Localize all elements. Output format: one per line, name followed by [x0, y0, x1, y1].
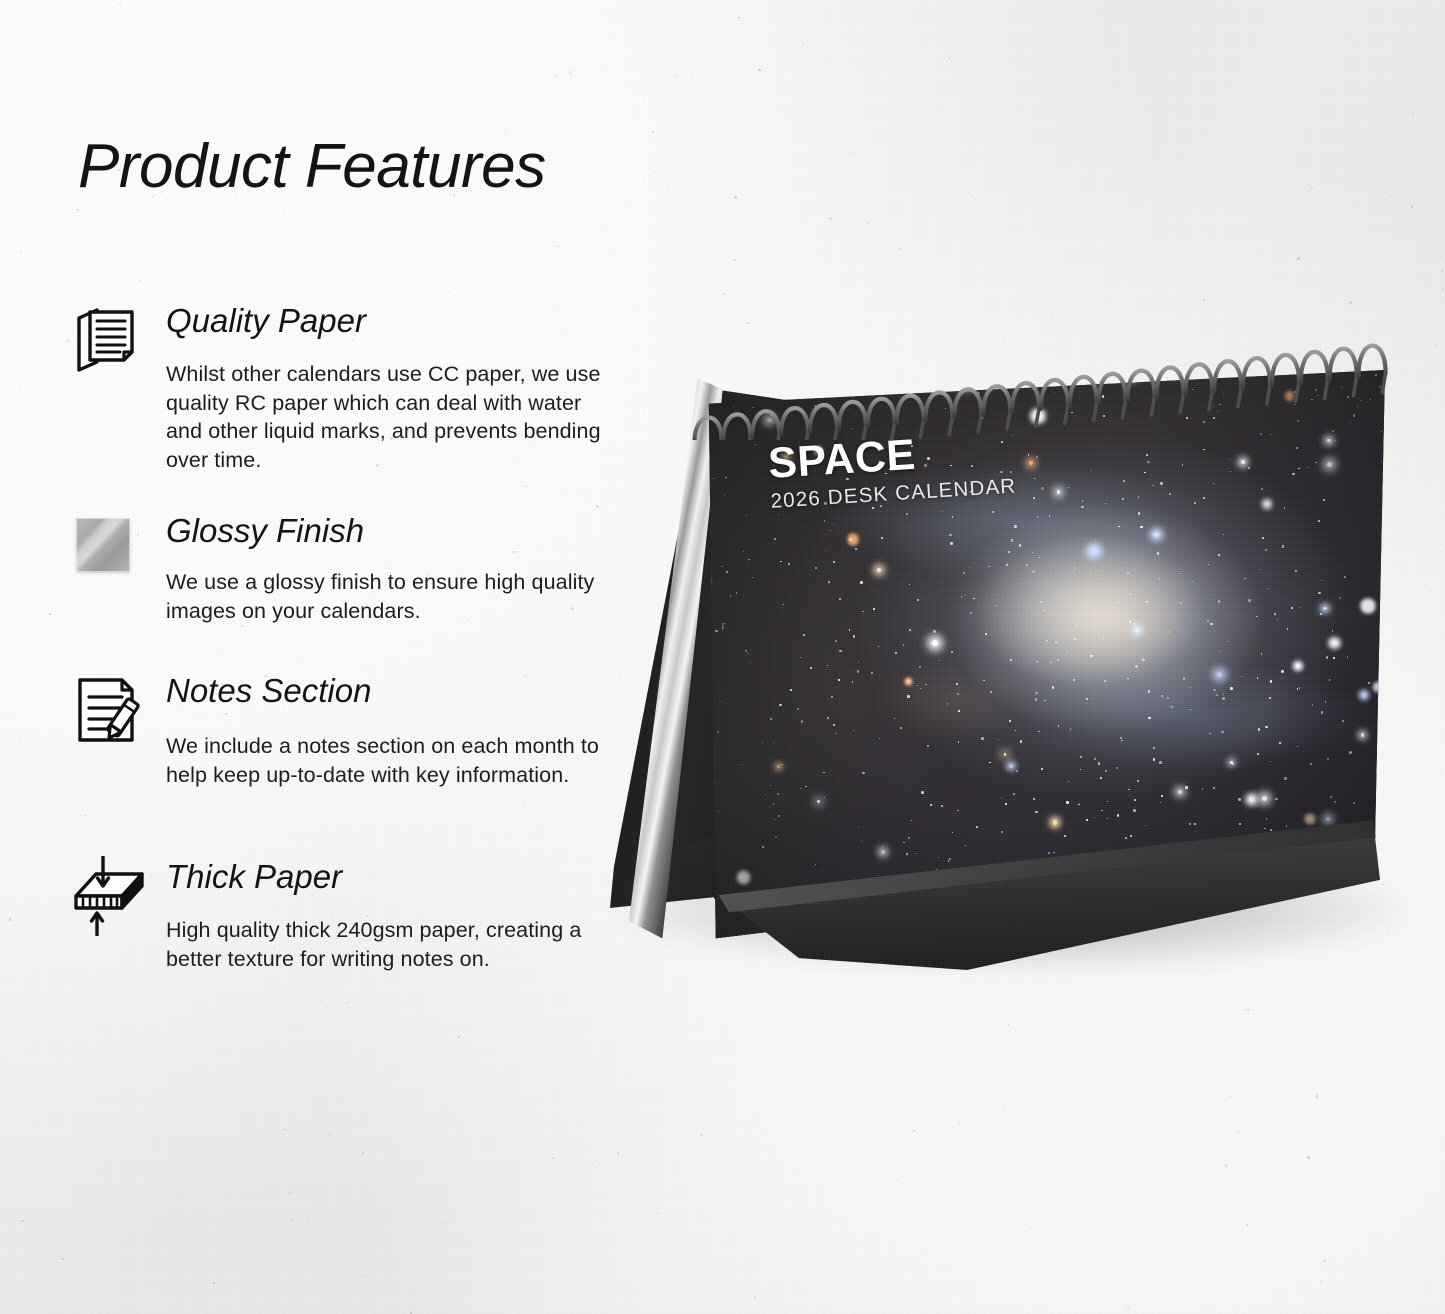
page-title: Product Features	[78, 136, 546, 198]
feature-list: Product Features Quality Paper	[0, 0, 640, 1314]
space-desk-calendar-mockup: SPACE 2026 DESK CALENDAR	[600, 330, 1420, 1010]
stacked-documents-icon	[70, 300, 150, 380]
page-root: Product Features Quality Paper	[0, 0, 1445, 1314]
feature-body: High quality thick 240gsm paper, creatin…	[166, 916, 586, 973]
feature-heading: Quality Paper	[166, 302, 366, 341]
thick-paper-slab-icon	[70, 856, 150, 936]
spiral-binding	[690, 330, 1390, 440]
feature-heading: Glossy Finish	[166, 512, 364, 551]
feature-heading: Thick Paper	[166, 858, 342, 897]
note-pencil-icon	[70, 670, 150, 750]
feature-heading: Notes Section	[166, 672, 371, 711]
feature-body: We use a glossy finish to ensure high qu…	[166, 568, 596, 625]
feature-body: Whilst other calendars use CC paper, we …	[166, 360, 621, 474]
glossy-swatch-icon	[70, 510, 150, 590]
feature-body: We include a notes section on each month…	[166, 732, 626, 789]
